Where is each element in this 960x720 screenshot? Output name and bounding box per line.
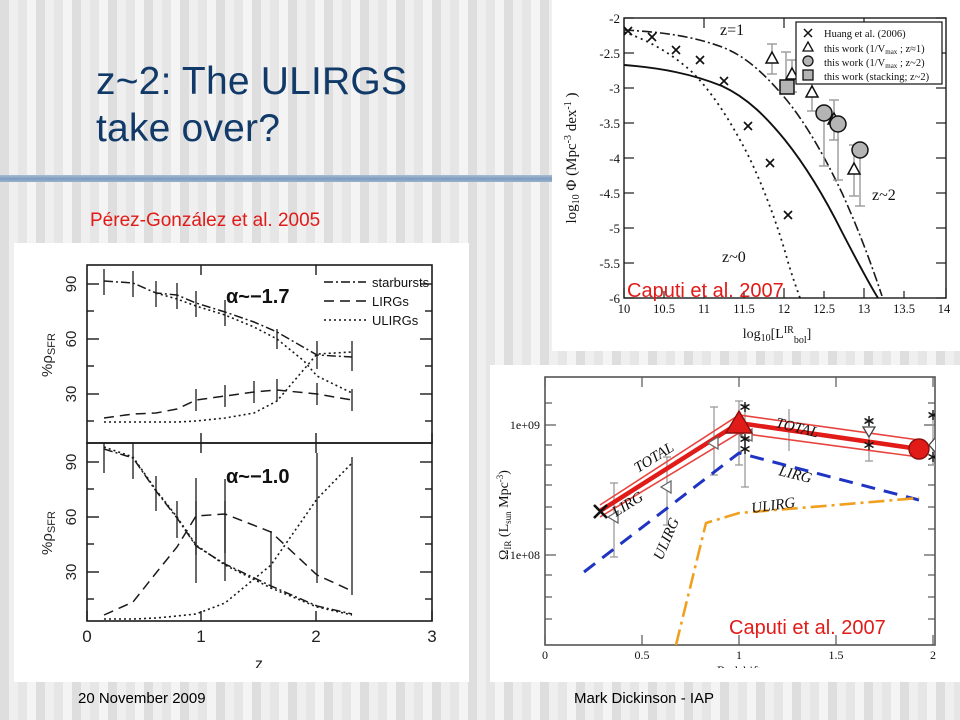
svg-text:2: 2 — [930, 648, 936, 662]
footer-strip-right — [490, 668, 960, 682]
svg-text:11.5: 11.5 — [733, 302, 754, 316]
footer-author: Mark Dickinson - IAP — [574, 690, 714, 707]
svg-text:-2.5: -2.5 — [599, 46, 620, 61]
legend-box: Huang et al. (2006) this work (1/Vmax ; … — [796, 22, 942, 84]
svg-text:30: 30 — [63, 386, 80, 403]
figure-caputi-omega-canvas: 1e+09 1e+08 ΩIR (Lsun Mpc-3) 0 0.5 1 1.5 — [490, 365, 960, 680]
title-divider — [0, 175, 553, 182]
svg-text:1: 1 — [736, 648, 742, 662]
annotation-z0: z~0 — [722, 249, 746, 266]
footer-date: 20 November 2009 — [78, 690, 206, 707]
svg-text:this work (stacking; z~2): this work (stacking; z~2) — [824, 72, 930, 83]
svg-text:12.5: 12.5 — [813, 302, 835, 316]
legend-label-starbursts: starbursts — [372, 275, 430, 290]
svg-text:-2: -2 — [609, 11, 620, 26]
figure-perez-gonzalez-canvas: 90 60 30 %ρSFR — [14, 243, 469, 680]
svg-text:-4: -4 — [609, 151, 620, 166]
svg-text:90: 90 — [63, 276, 80, 293]
svg-text:α~−1.0: α~−1.0 — [226, 466, 289, 488]
svg-text:2: 2 — [311, 627, 320, 646]
svg-text:60: 60 — [63, 509, 80, 526]
svg-text:12: 12 — [778, 302, 791, 316]
svg-text:this work (1/Vmax ; z~2): this work (1/Vmax ; z~2) — [824, 58, 925, 70]
slide-root: z~2: The ULIRGS take over? Pérez-Gonzále… — [0, 0, 960, 720]
footer-strip-left — [14, 668, 469, 682]
page-title: z~2: The ULIRGS take over? — [96, 58, 566, 152]
svg-text:-5: -5 — [609, 221, 620, 236]
svg-text:-3.5: -3.5 — [599, 116, 620, 131]
svg-text:0.5: 0.5 — [635, 648, 650, 662]
credit-caputi-top: Caputi et al. 2007 — [627, 280, 784, 303]
svg-text:-4.5: -4.5 — [599, 186, 620, 201]
svg-text:11: 11 — [698, 302, 710, 316]
svg-text:-3: -3 — [609, 81, 620, 96]
figure-caputi-2007-omega-ir: 1e+09 1e+08 ΩIR (Lsun Mpc-3) 0 0.5 1 1.5 — [490, 365, 960, 680]
svg-text:%ρSFR: %ρSFR — [39, 333, 58, 377]
annotation-z1: z=1 — [720, 22, 744, 39]
svg-text:%ρSFR: %ρSFR — [39, 511, 58, 555]
svg-text:0: 0 — [542, 648, 548, 662]
svg-text:0: 0 — [82, 627, 91, 646]
svg-text:1.5: 1.5 — [829, 648, 844, 662]
svg-text:-5.5: -5.5 — [599, 256, 620, 271]
svg-text:90: 90 — [63, 454, 80, 471]
svg-text:10: 10 — [618, 302, 631, 316]
svg-text:α~−1.7: α~−1.7 — [226, 286, 289, 308]
svg-text:13: 13 — [858, 302, 871, 316]
svg-text:60: 60 — [63, 331, 80, 348]
svg-text:1: 1 — [196, 627, 205, 646]
credit-perez-gonzalez: Pérez-González et al. 2005 — [90, 210, 320, 232]
page-title-line-1: z~2: The ULIRGS — [96, 58, 566, 105]
svg-text:3: 3 — [427, 627, 436, 646]
credit-caputi-bottom: Caputi et al. 2007 — [729, 617, 886, 640]
svg-text:1e+09: 1e+09 — [510, 418, 540, 432]
svg-text:Huang et al. (2006): Huang et al. (2006) — [824, 29, 906, 40]
svg-text:30: 30 — [63, 564, 80, 581]
svg-text:14: 14 — [938, 302, 951, 316]
svg-text:10.5: 10.5 — [653, 302, 675, 316]
page-title-line-2: take over? — [96, 105, 566, 152]
figure-caputi-2007-luminosity-function: -2 -2.5 -3 -3.5 -4 -4.5 -5 -5.5 -6 log10… — [552, 0, 960, 351]
legend-label-lirgs: LIRGs — [372, 294, 409, 309]
svg-text:13.5: 13.5 — [893, 302, 915, 316]
legend-label-ulirgs: ULIRGs — [372, 313, 419, 328]
annotation-z2: z~2 — [872, 187, 896, 204]
svg-text:1e+08: 1e+08 — [510, 548, 540, 562]
figure-perez-gonzalez-2005: 90 60 30 %ρSFR — [14, 243, 469, 680]
svg-text:this work (1/Vmax ; z≈1): this work (1/Vmax ; z≈1) — [824, 44, 925, 56]
